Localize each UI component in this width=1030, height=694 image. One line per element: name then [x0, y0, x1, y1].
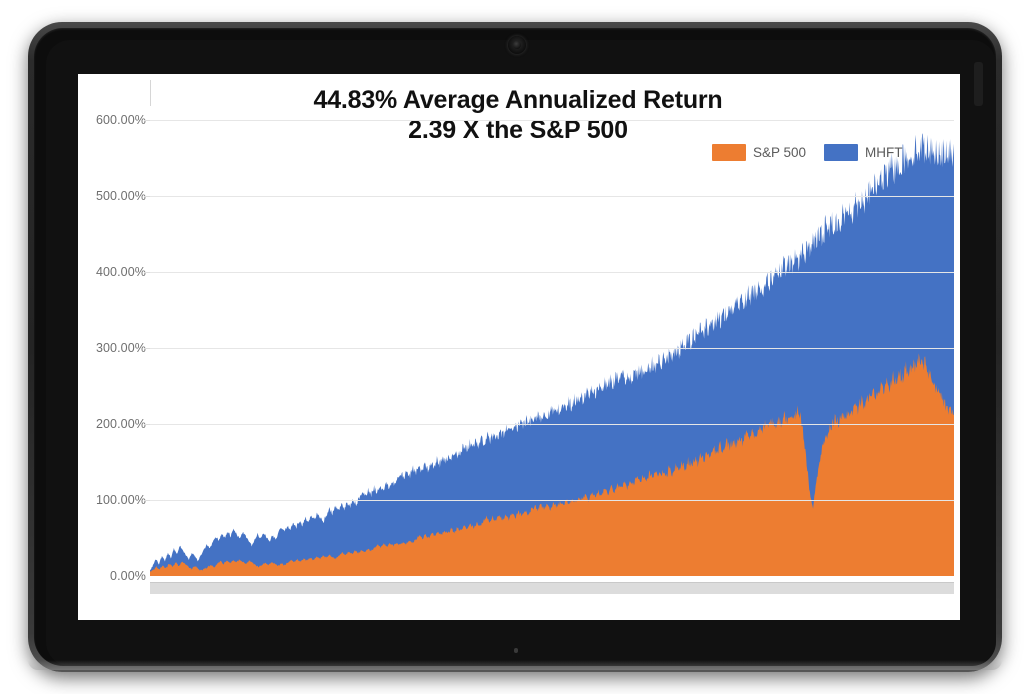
- gridline: [150, 348, 954, 349]
- y-axis-tick-label: 300.00%: [96, 341, 146, 355]
- legend-item[interactable]: S&P 500: [712, 144, 806, 161]
- gridline: [150, 424, 954, 425]
- y-axis-tick-label: 200.00%: [96, 417, 146, 431]
- gridline: [150, 500, 954, 501]
- legend-swatch-icon: [824, 144, 858, 161]
- legend-swatch-icon: [712, 144, 746, 161]
- performance-area-chart: 44.83% Average Annualized Return 2.39 X …: [78, 74, 960, 620]
- side-speaker-icon: [974, 62, 983, 106]
- status-led-icon: [514, 648, 518, 653]
- front-camera-icon: [508, 36, 526, 54]
- y-axis-tick-label: 400.00%: [96, 265, 146, 279]
- y-axis-tick: [144, 424, 150, 425]
- gridline: [150, 272, 954, 273]
- screenshot-root: 44.83% Average Annualized Return 2.39 X …: [0, 0, 1030, 694]
- y-axis-tick: [144, 348, 150, 349]
- y-axis-tick-label: 0.00%: [110, 569, 146, 583]
- legend-label: MHFT: [865, 145, 903, 160]
- tablet-screen: 44.83% Average Annualized Return 2.39 X …: [78, 74, 960, 620]
- chart-legend: S&P 500MHFT: [712, 144, 903, 161]
- legend-label: S&P 500: [753, 145, 806, 160]
- y-axis-tick: [144, 120, 150, 121]
- y-axis-labels: 0.00%100.00%200.00%300.00%400.00%500.00%…: [78, 74, 150, 620]
- y-axis-tick-label: 100.00%: [96, 493, 146, 507]
- gridline: [150, 196, 954, 197]
- y-axis-tick: [144, 500, 150, 501]
- y-axis-tick-label: 500.00%: [96, 189, 146, 203]
- y-axis-tick: [144, 196, 150, 197]
- y-axis-tick: [144, 272, 150, 273]
- x-axis-baseline: [150, 583, 954, 594]
- y-axis-tick-label: 600.00%: [96, 113, 146, 127]
- legend-item[interactable]: MHFT: [824, 144, 903, 161]
- gridline: [150, 120, 954, 121]
